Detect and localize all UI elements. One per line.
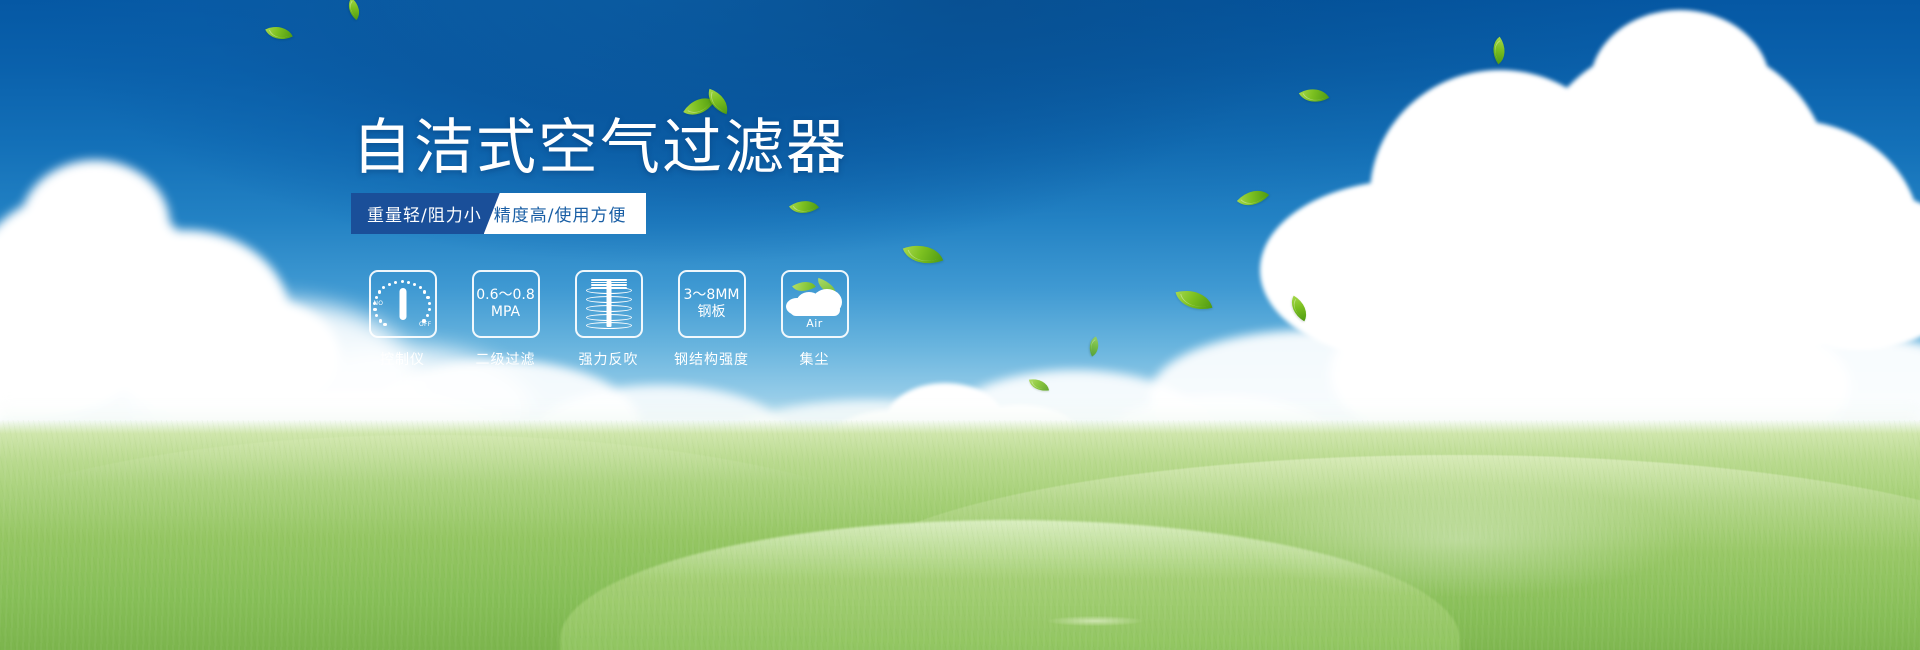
feature-label: 强力反吹	[579, 349, 639, 369]
feature-item-steel: 3～8MM 钢板 钢结构强度	[660, 270, 763, 369]
gauge-needle-icon	[399, 288, 406, 320]
pressure-unit: MPA	[476, 304, 535, 321]
coil-icon	[586, 279, 632, 329]
product-banner: 自洁式空气过滤器 重量轻/阻力小 精度高/使用方便	[0, 0, 1920, 650]
feature-item-backblow: 强力反吹	[557, 270, 660, 369]
pressure-value: 0.6～0.8	[476, 287, 535, 304]
pressure-icon: 0.6～0.8 MPA	[476, 287, 535, 320]
steel-icon: 3～8MM 钢板	[684, 287, 740, 320]
feature-label: 控制仪	[380, 349, 425, 369]
air-label: Air	[786, 317, 844, 330]
banner-content: 自洁式空气过滤器 重量轻/阻力小 精度高/使用方便	[0, 0, 1920, 650]
feature-icon-box: 0.6～0.8 MPA	[472, 270, 540, 338]
feature-label: 二级过滤	[476, 349, 536, 369]
tag-row: 重量轻/阻力小 精度高/使用方便	[351, 193, 646, 234]
tag-lightweight-low-resistance: 重量轻/阻力小	[351, 193, 500, 234]
feature-icon-box: Air	[781, 270, 849, 338]
tag-high-precision-easy-use: 精度高/使用方便	[484, 193, 647, 234]
feature-item-controller: NO OFF 控制仪	[351, 270, 454, 369]
feature-icon-box: NO OFF	[369, 270, 437, 338]
feature-label: 钢结构强度	[674, 349, 749, 369]
gauge-no-label: NO	[374, 300, 384, 307]
gauge-off-label: OFF	[419, 321, 432, 328]
feature-label: 集尘	[800, 349, 830, 369]
steel-thickness: 3～8MM	[684, 287, 740, 304]
feature-item-dust-collection: Air 集尘	[763, 270, 866, 369]
banner-title: 自洁式空气过滤器	[352, 118, 848, 178]
gauge-icon: NO OFF	[375, 279, 431, 329]
steel-material: 钢板	[684, 304, 740, 321]
feature-list: NO OFF 控制仪 0.6～0.8 MPA 二级过滤	[351, 270, 866, 369]
feature-icon-box: 3～8MM 钢板	[678, 270, 746, 338]
air-cloud-icon: Air	[786, 280, 844, 328]
feature-item-pressure: 0.6～0.8 MPA 二级过滤	[454, 270, 557, 369]
feature-icon-box	[575, 270, 643, 338]
